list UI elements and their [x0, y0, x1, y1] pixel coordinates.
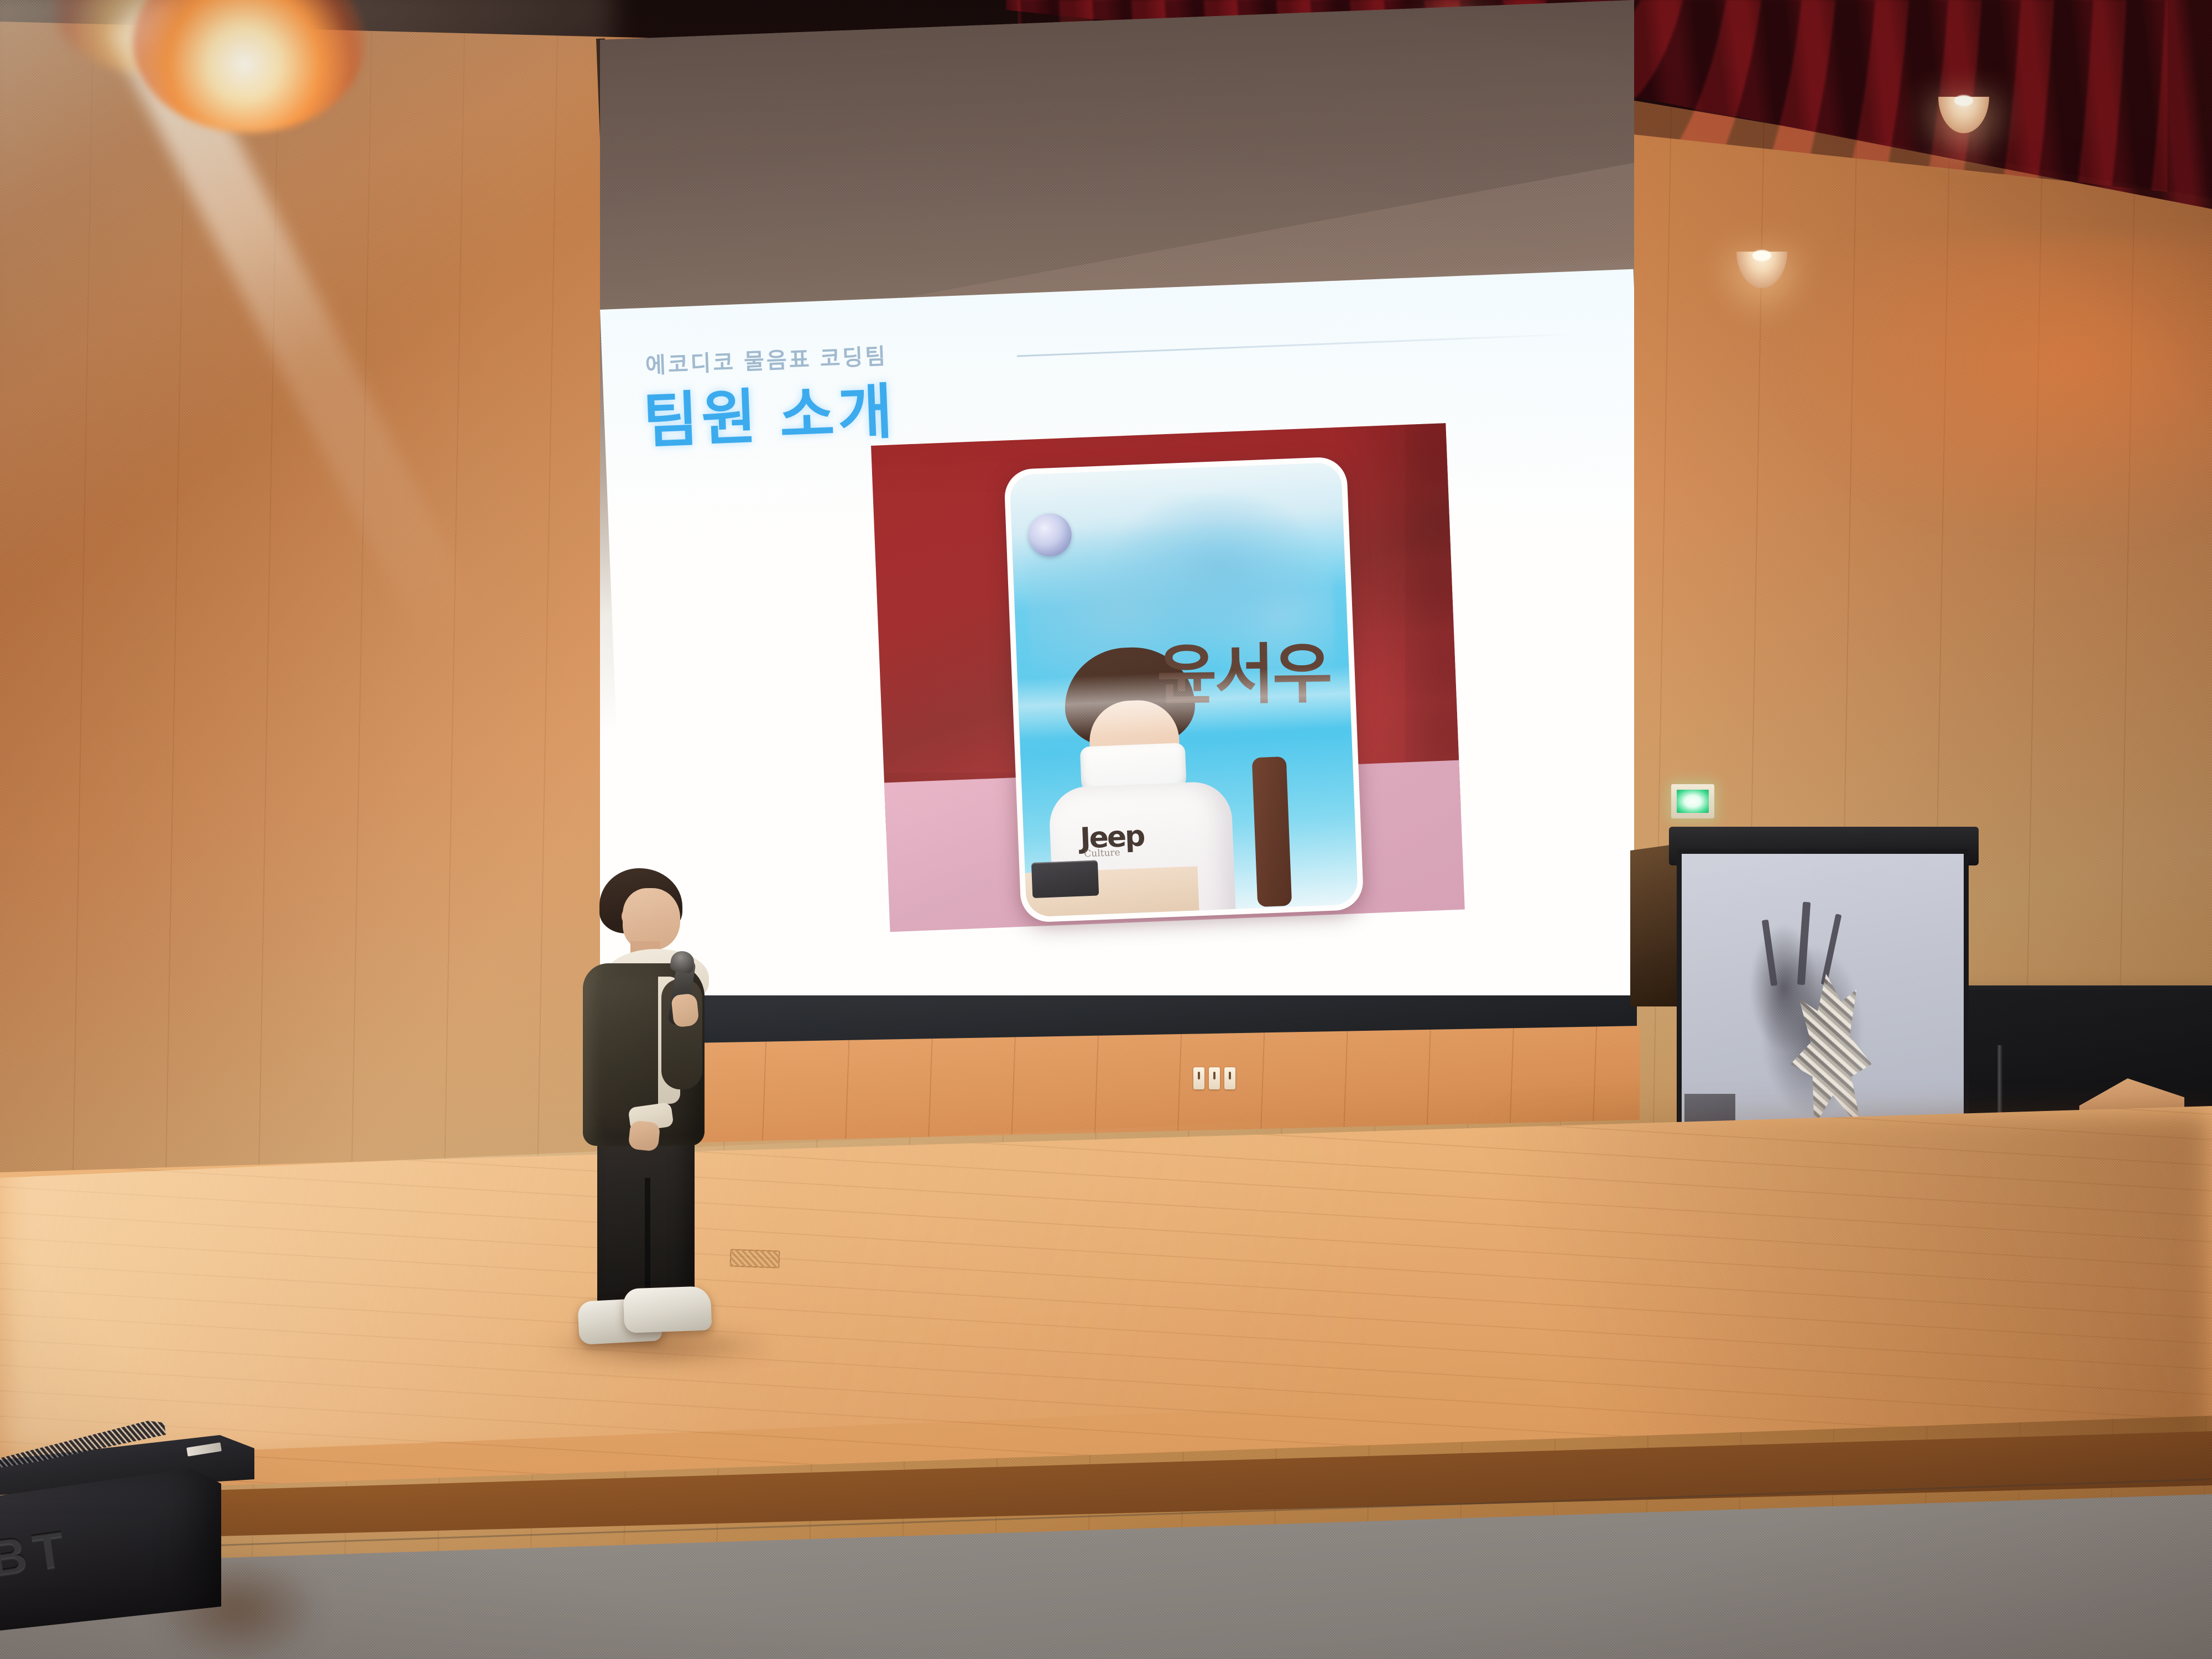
emergency-exit-icon	[1671, 784, 1714, 818]
floor-monitor-speaker: FBT	[0, 1435, 254, 1645]
member-name-handwritten: 윤서우	[1156, 642, 1331, 707]
presenter-shoe-right	[623, 1286, 712, 1333]
presenter-hand-lower	[628, 1120, 660, 1151]
auditorium-stage-photo: 에코디코 물음표 코딩팀 팀원 소개 Jeep Culture	[0, 0, 2212, 1659]
slide-title: 팀원 소개	[641, 363, 898, 460]
floor-shadow-right	[1150, 1112, 2212, 1454]
wall-outlet-icon	[1224, 1067, 1235, 1089]
member-photo-card: Jeep Culture 윤서우	[1004, 456, 1364, 923]
slide-divider-rule	[1017, 333, 1580, 357]
wall-outlet-icon	[1193, 1067, 1204, 1089]
curtain-warm-glow	[1770, 238, 2212, 547]
member-photo: Jeep Culture 윤서우	[1009, 462, 1358, 917]
chair-back	[1252, 757, 1292, 907]
keyboard-device	[1031, 860, 1099, 898]
jeep-tagline-text: Culture	[1084, 847, 1120, 860]
wall-outlet-icon	[1209, 1067, 1220, 1089]
student-presenter	[564, 868, 763, 1360]
presenter-hand-holding-mic	[671, 993, 700, 1027]
